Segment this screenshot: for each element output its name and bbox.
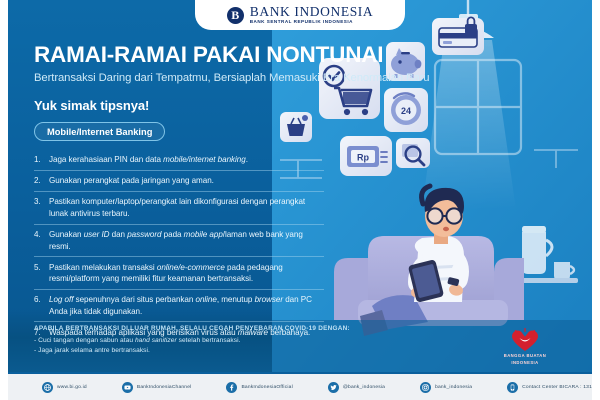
bank-indonesia-logo-mark: B bbox=[227, 7, 244, 24]
facebook-icon bbox=[226, 382, 237, 393]
footer-item-instagram[interactable]: bank_indonesia bbox=[420, 382, 507, 393]
24-hour-clock-icon: 24 bbox=[384, 88, 428, 132]
tip-text: Pastikan melakukan transaksi online/e-co… bbox=[49, 263, 283, 283]
tip-item: 2.Gunakan perangkat pada jaringan yang a… bbox=[34, 171, 324, 192]
footer-item-label: @bank_indonesia bbox=[343, 385, 385, 390]
footer-item-facebook[interactable]: BankIndonesiaOfficial bbox=[226, 382, 327, 393]
bank-indonesia-logo: B BANK INDONESIA BANK SENTRAL REPUBLIK I… bbox=[195, 0, 405, 30]
bangga-buatan-indonesia-badge: BANGGA BUATAN INDONESIA bbox=[496, 328, 554, 366]
bbi-label-line1: BANGGA BUATAN bbox=[496, 353, 554, 359]
youtube-icon bbox=[122, 382, 133, 393]
bank-indonesia-logo-text: BANK INDONESIA BANK SENTRAL REPUBLIK IND… bbox=[250, 5, 374, 25]
footer-item-globe[interactable]: www.bi.go.id bbox=[42, 382, 122, 393]
tip-text: Gunakan user ID dan password pada mobile… bbox=[49, 230, 303, 250]
footer-item-label: BankIndonesiaChannel bbox=[137, 385, 192, 390]
tips-heading: Yuk simak tipsnya! bbox=[34, 98, 324, 113]
bbi-label-line2: INDONESIA bbox=[496, 360, 554, 366]
logo-tagline: BANK SENTRAL REPUBLIK INDONESIA bbox=[250, 20, 374, 25]
clock-label: 24 bbox=[401, 106, 411, 116]
credit-card-lock-icon bbox=[432, 17, 484, 55]
covid-note-line: - Jaga jarak selama antre bertransaksi. bbox=[34, 346, 354, 357]
tip-text: Gunakan perangkat pada jaringan yang ama… bbox=[49, 176, 214, 185]
tip-item: 4.Gunakan user ID dan password pada mobi… bbox=[34, 225, 324, 258]
tips-list: 1.Jaga kerahasiaan PIN dan data mobile/i… bbox=[34, 150, 324, 342]
tip-number: 2. bbox=[34, 175, 41, 186]
tip-item: 3.Pastikan komputer/laptop/perangkat lai… bbox=[34, 192, 324, 225]
covid-note-caption: APABILA BERTRANSAKSI DI LUAR RUMAH, SELA… bbox=[34, 325, 354, 332]
heart-icon bbox=[510, 328, 540, 352]
twitter-icon bbox=[328, 382, 339, 393]
infographic-poster: 24 Rp bbox=[8, 0, 592, 400]
tip-number: 4. bbox=[34, 229, 41, 240]
poster-title: RAMAI-RAMAI PAKAI NONTUNAI bbox=[34, 44, 430, 67]
tips-block: Yuk simak tipsnya! Mobile/Internet Banki… bbox=[34, 98, 324, 342]
rupiah-symbol: Rp bbox=[357, 153, 369, 163]
tip-number: 6. bbox=[34, 294, 41, 305]
tip-number: 5. bbox=[34, 262, 41, 273]
tip-text: Pastikan komputer/laptop/perangkat lain … bbox=[49, 197, 305, 217]
tip-text: Jaga kerahasiaan PIN dan data mobile/int… bbox=[49, 155, 248, 164]
globe-icon bbox=[42, 382, 53, 393]
rupiah-card-icon: Rp bbox=[340, 136, 392, 176]
search-magnifier-icon bbox=[396, 138, 430, 168]
tip-number: 1. bbox=[34, 154, 41, 165]
covid-note-block: APABILA BERTRANSAKSI DI LUAR RUMAH, SELA… bbox=[34, 325, 354, 357]
footer-item-youtube[interactable]: BankIndonesiaChannel bbox=[122, 382, 227, 393]
tip-text: Log off sepenuhnya dari situs perbankan … bbox=[49, 295, 312, 315]
footer-item-twitter[interactable]: @bank_indonesia bbox=[328, 382, 420, 393]
tip-item: 5.Pastikan melakukan transaksi online/e-… bbox=[34, 257, 324, 290]
footer-item-label: Contact Center BICARA : 131 bbox=[522, 385, 592, 390]
covid-note-lines: - Cuci tangan dengan sabun atau hand san… bbox=[34, 336, 354, 357]
footer-item-label: BankIndonesiaOfficial bbox=[241, 385, 292, 390]
covid-note-line: - Cuci tangan dengan sabun atau hand san… bbox=[34, 336, 354, 347]
poster-subtitle: Bertransaksi Daring dari Tempatmu, Bersi… bbox=[34, 73, 430, 84]
phone-icon bbox=[507, 382, 518, 393]
headline-block: RAMAI-RAMAI PAKAI NONTUNAI Bertransaksi … bbox=[34, 44, 430, 84]
footer-item-phone[interactable]: Contact Center BICARA : 131 bbox=[507, 382, 592, 393]
footer-bar: www.bi.go.idBankIndonesiaChannelBankIndo… bbox=[8, 372, 592, 400]
footer-item-label: www.bi.go.id bbox=[57, 385, 87, 390]
tip-item: 6.Log off sepenuhnya dari situs perbanka… bbox=[34, 290, 324, 323]
tip-number: 3. bbox=[34, 196, 41, 207]
category-pill: Mobile/Internet Banking bbox=[34, 122, 165, 141]
footer-item-label: bank_indonesia bbox=[435, 385, 472, 390]
logo-name: BANK INDONESIA bbox=[250, 5, 374, 19]
tip-item: 1.Jaga kerahasiaan PIN dan data mobile/i… bbox=[34, 150, 324, 171]
instagram-icon bbox=[420, 382, 431, 393]
